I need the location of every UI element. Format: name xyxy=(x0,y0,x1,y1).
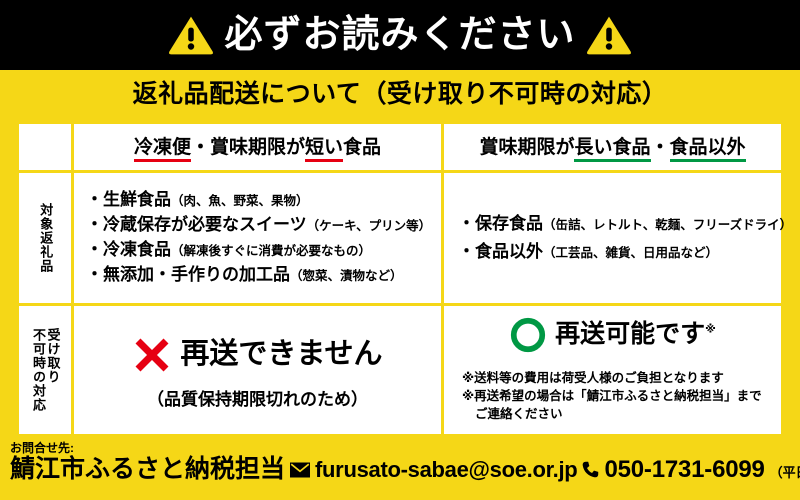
list-item-main: ・無添加・手作りの加工品 xyxy=(86,265,290,284)
warning-triangle-icon xyxy=(586,14,632,56)
row-label-text: 対象返礼品 xyxy=(38,203,53,273)
target-items-left-cell: ・生鮮食品（肉、魚、野菜、果物） ・冷蔵保存が必要なスイーツ（ケーキ、プリン等）… xyxy=(71,173,441,303)
info-table: 冷凍便・賞味期限が短い食品 賞味期限が長い食品・食品以外 対象返礼品 ・生鮮食品… xyxy=(16,121,784,437)
list-item: ・生鮮食品（肉、魚、野菜、果物） xyxy=(86,191,435,210)
list-item-sub: （肉、魚、野菜、果物） xyxy=(171,194,309,208)
column-header-left: 冷凍便・賞味期限が短い食品 xyxy=(71,124,441,170)
row-label-text-col2: 不可時の対応 xyxy=(30,328,45,412)
row-label-target-items: 対象返礼品 xyxy=(19,173,71,303)
list-item-sub: （缶詰、レトルト、乾麺、フリーズドライ） xyxy=(543,218,792,232)
result-note: （品質保持期限切れのため） xyxy=(74,391,441,408)
bullet-list: ・保存食品（缶詰、レトルト、乾麺、フリーズドライ） ・食品以外（工芸品、雑貨、日… xyxy=(444,206,798,271)
list-item-sub: （工芸品、雑貨、日用品など） xyxy=(543,246,718,260)
page-title: 必ずお読みください xyxy=(224,16,575,54)
note-item: ※送料等の費用は荷受人様のご負担となります xyxy=(462,370,773,386)
envelope-icon xyxy=(290,462,310,478)
table-row: 対象返礼品 ・生鮮食品（肉、魚、野菜、果物） ・冷蔵保存が必要なスイーツ（ケーキ… xyxy=(19,170,781,303)
bullet-list: ・生鮮食品（肉、魚、野菜、果物） ・冷蔵保存が必要なスイーツ（ケーキ、プリン等）… xyxy=(74,185,441,290)
list-item: ・冷蔵保存が必要なスイーツ（ケーキ、プリン等） xyxy=(86,216,435,235)
section-banner: 返礼品配送について（受け取り不可時の対応） xyxy=(0,70,800,118)
footer-department: 鯖江市ふるさと納税担当 xyxy=(10,457,285,482)
footer-contact: お問合せ先: 鯖江市ふるさと納税担当 furusato-sabae@soe.or… xyxy=(0,437,800,500)
col-right-part3: ・ xyxy=(651,137,670,158)
footer-hours: （平日10:00-17:00対応） xyxy=(770,466,800,479)
list-item: ・保存食品（缶詰、レトルト、乾麺、フリーズドライ） xyxy=(458,215,792,234)
col-left-part2: ・賞味期限が xyxy=(191,137,305,158)
circle-mark-icon xyxy=(509,316,547,354)
list-item-main: ・食品以外 xyxy=(458,242,543,261)
column-header-right: 賞味期限が長い食品・食品以外 xyxy=(441,124,781,170)
row-label-undeliverable: 受け取り 不可時の対応 xyxy=(19,306,71,434)
list-item-main: ・冷凍食品 xyxy=(86,240,171,259)
result-text: 再送できません xyxy=(180,340,382,369)
result-text: 再送可能です※ xyxy=(555,322,716,347)
row-label-text-col1: 受け取り xyxy=(45,328,60,384)
list-item: ・冷凍食品（解凍後すぐに消費が必要なもの） xyxy=(86,241,435,260)
list-item-sub: （解凍後すぐに消費が必要なもの） xyxy=(171,244,371,258)
result-left-cell: 再送できません （品質保持期限切れのため） xyxy=(71,306,441,434)
footer-label: お問合せ先: xyxy=(10,442,792,455)
list-item-main: ・冷蔵保存が必要なスイーツ xyxy=(86,215,307,234)
table-header-row: 冷凍便・賞味期限が短い食品 賞味期限が長い食品・食品以外 xyxy=(19,124,781,170)
list-item-main: ・生鮮食品 xyxy=(86,190,171,209)
col-right-part4: 食品以外 xyxy=(670,137,746,162)
list-item-main: ・保存食品 xyxy=(458,214,543,233)
poster-root: 必ずお読みください 返礼品配送について（受け取り不可時の対応） 冷凍便・賞味期限… xyxy=(0,0,800,500)
section-banner-title: 返礼品配送について（受け取り不可時の対応） xyxy=(133,82,668,107)
telephone-icon xyxy=(582,460,599,479)
list-item: ・無添加・手作りの加工品（惣菜、漬物など） xyxy=(86,266,435,285)
list-item: ・食品以外（工芸品、雑貨、日用品など） xyxy=(458,243,792,262)
col-right-part2: 長い食品 xyxy=(574,137,650,162)
table-row: 受け取り 不可時の対応 再送できません （品質保持期限切れのため） xyxy=(19,303,781,434)
result-resend-ok: 再送可能です※ xyxy=(444,316,781,354)
col-left-part3: 短い xyxy=(305,137,343,162)
result-right-cell: 再送可能です※ ※送料等の費用は荷受人様のご負担となります ※再送希望の場合は「… xyxy=(441,306,781,434)
footer-phone[interactable]: 050-1731-6099 xyxy=(604,458,764,482)
target-items-right-cell: ・保存食品（缶詰、レトルト、乾麺、フリーズドライ） ・食品以外（工芸品、雑貨、日… xyxy=(441,173,798,303)
list-item-sub: （ケーキ、プリン等） xyxy=(307,219,432,233)
col-right-part1: 賞味期限が xyxy=(479,137,574,158)
result-notes: ※送料等の費用は荷受人様のご負担となります ※再送希望の場合は「鯖江市ふるさと納… xyxy=(444,354,781,425)
cross-mark-icon xyxy=(132,335,172,375)
footer-email[interactable]: furusato-sabae@soe.or.jp xyxy=(315,459,577,481)
header-bar: 必ずお読みください xyxy=(0,0,800,70)
note-item: ※再送希望の場合は「鯖江市ふるさと納税担当」まで xyxy=(462,388,773,404)
footer-contact-line: 鯖江市ふるさと納税担当 furusato-sabae@soe.or.jp 050… xyxy=(10,457,792,482)
table-corner-cell xyxy=(19,124,71,170)
result-no-resend: 再送できません xyxy=(74,335,441,375)
col-left-part4: 食品 xyxy=(343,137,381,158)
col-left-part1: 冷凍便 xyxy=(134,137,191,162)
result-text-superscript: ※ xyxy=(705,324,716,336)
note-item-continuation: ご連絡ください xyxy=(462,406,773,422)
list-item-sub: （惣菜、漬物など） xyxy=(290,269,403,283)
warning-triangle-icon xyxy=(168,14,214,56)
result-text-main: 再送可能です xyxy=(555,320,705,348)
